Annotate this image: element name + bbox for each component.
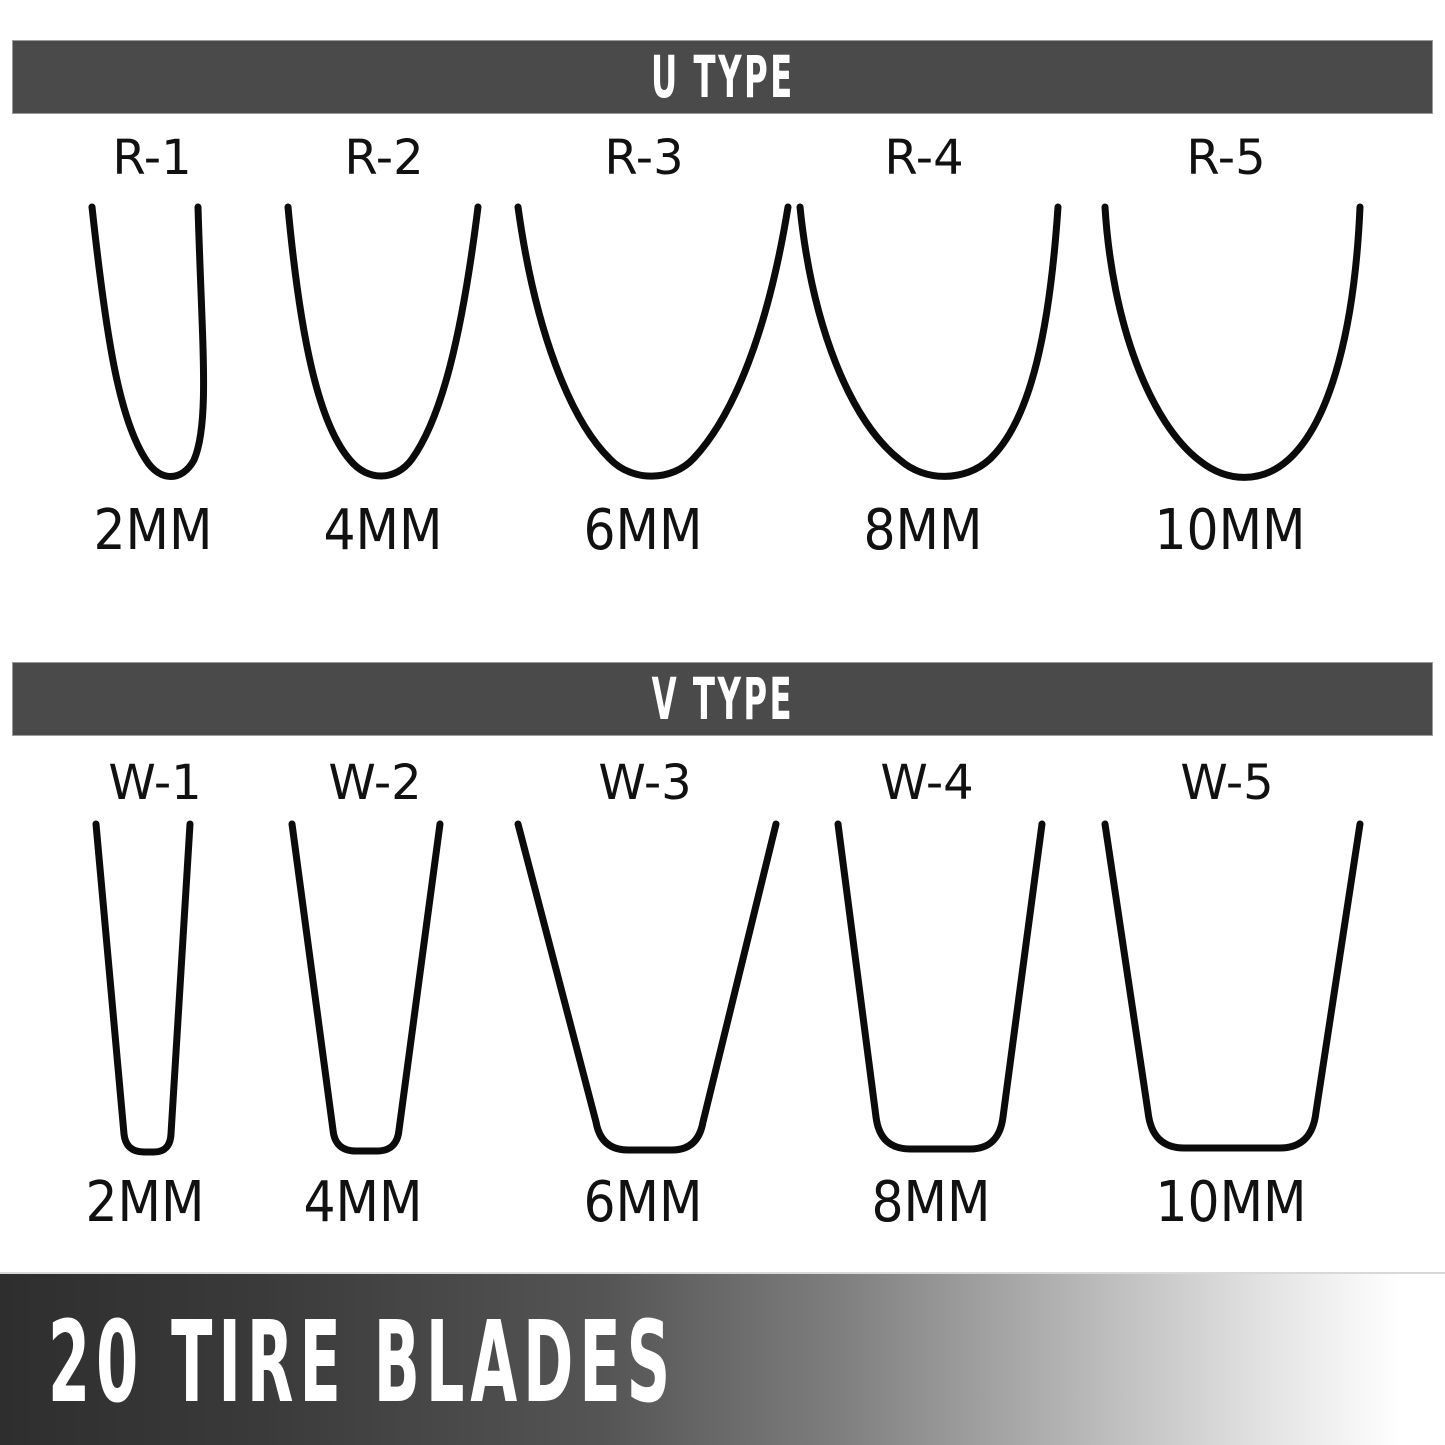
code-label-r-5: R-5 xyxy=(1166,130,1286,186)
profile-shape-r-1 xyxy=(92,207,204,477)
profile-shape-r-3 xyxy=(518,207,788,476)
section-header-v-type-label: V TYPE xyxy=(651,670,793,728)
size-label-w-1: 2MM xyxy=(70,1172,220,1234)
size-label-r-3: 6MM xyxy=(568,500,718,562)
profile-shape-w-4 xyxy=(838,824,1042,1149)
size-label-r-1: 2MM xyxy=(78,500,228,562)
profile-shape-w-5 xyxy=(1105,824,1360,1148)
section-header-v-type: V TYPE xyxy=(12,662,1433,736)
code-label-w-5: W-5 xyxy=(1162,755,1292,811)
profile-shape-r-4 xyxy=(800,207,1058,476)
size-label-w-5: 10MM xyxy=(1136,1172,1326,1234)
size-label-r-4: 8MM xyxy=(848,500,998,562)
code-label-w-2: W-2 xyxy=(310,755,440,811)
size-label-w-4: 8MM xyxy=(856,1172,1006,1234)
section-header-u-type: U TYPE xyxy=(12,40,1433,114)
code-label-r-4: R-4 xyxy=(864,130,984,186)
code-label-r-1: R-1 xyxy=(92,130,212,186)
code-label-w-4: W-4 xyxy=(862,755,992,811)
profile-shape-w-2 xyxy=(292,824,440,1151)
code-label-r-3: R-3 xyxy=(584,130,704,186)
code-label-r-2: R-2 xyxy=(324,130,444,186)
size-label-w-2: 4MM xyxy=(288,1172,438,1234)
section-header-u-type-label: U TYPE xyxy=(651,48,795,106)
profile-shape-w-3 xyxy=(518,824,776,1150)
size-label-row-v: 2MM 4MM 6MM 8MM 10MM xyxy=(0,1172,1445,1234)
code-label-row-u: R-1 R-2 R-3 R-4 R-5 xyxy=(0,130,1445,186)
code-label-w-3: W-3 xyxy=(580,755,710,811)
v-type-profiles xyxy=(0,812,1445,1167)
size-label-r-2: 4MM xyxy=(308,500,458,562)
bottom-banner-text: 20 TIRE BLADES xyxy=(48,1301,676,1419)
size-label-r-5: 10MM xyxy=(1140,500,1320,562)
profile-shape-r-5 xyxy=(1105,207,1360,477)
code-label-row-v: W-1 W-2 W-3 W-4 W-5 xyxy=(0,755,1445,811)
size-label-w-3: 6MM xyxy=(568,1172,718,1234)
profile-shape-w-1 xyxy=(96,824,190,1152)
code-label-w-1: W-1 xyxy=(90,755,220,811)
profile-shape-r-2 xyxy=(288,207,478,476)
product-info-graphic: U TYPE R-1 R-2 R-3 R-4 R-5 2MM 4MM 6MM 8… xyxy=(0,0,1445,1445)
u-type-profiles xyxy=(0,195,1445,495)
bottom-banner: 20 TIRE BLADES xyxy=(0,1272,1445,1445)
size-label-row-u: 2MM 4MM 6MM 8MM 10MM xyxy=(0,500,1445,562)
